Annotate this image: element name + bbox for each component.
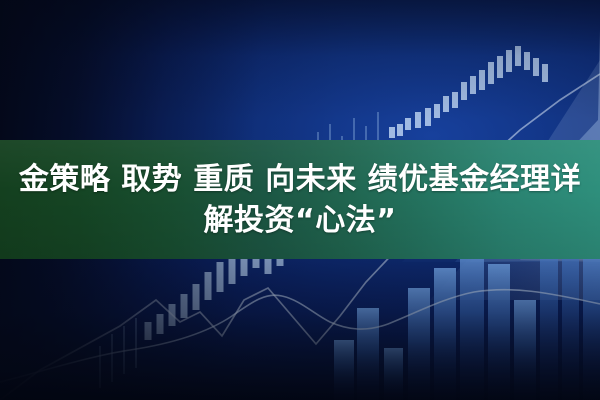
banner-image: 金策略 取势 重质 向未来 绩优基金经理详解投资“心法”: [0, 0, 600, 400]
banner-headline: 金策略 取势 重质 向未来 绩优基金经理详解投资“心法”: [8, 159, 592, 241]
title-band: 金策略 取势 重质 向未来 绩优基金经理详解投资“心法”: [0, 140, 600, 259]
